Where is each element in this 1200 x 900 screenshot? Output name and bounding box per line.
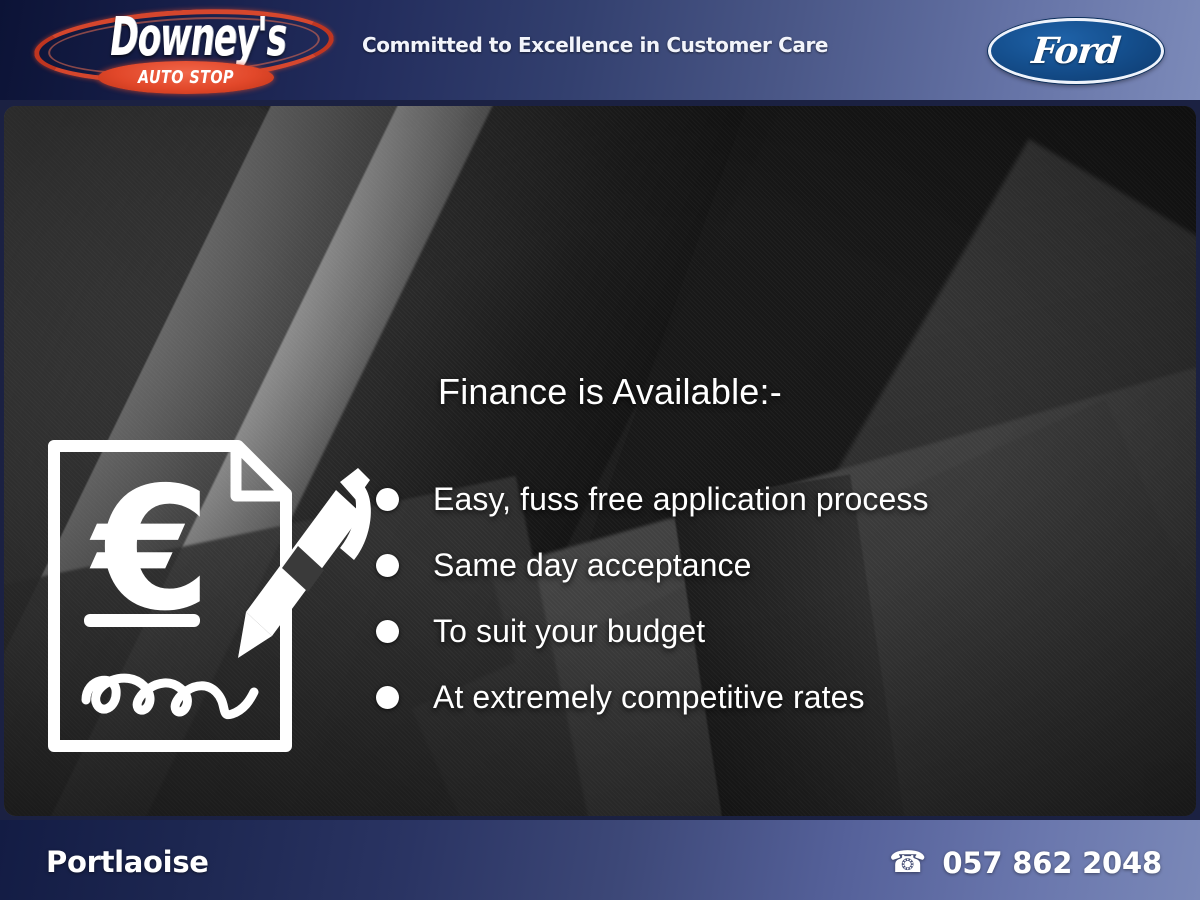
header-tagline: Committed to Excellence in Customer Care	[362, 33, 828, 57]
telephone-icon: ☎	[889, 848, 926, 878]
benefits-list: Easy, fuss free application process Same…	[376, 466, 929, 730]
bullet-dot-icon	[376, 554, 399, 577]
advert-page: Downey's AUTO STOP Committed to Excellen…	[0, 0, 1200, 900]
site-header: Downey's AUTO STOP Committed to Excellen…	[0, 0, 1200, 100]
bullet-dot-icon	[376, 488, 399, 511]
list-item-label: Easy, fuss free application process	[433, 481, 929, 518]
dealer-name: Downey's	[104, 6, 291, 69]
list-item-label: To suit your budget	[433, 613, 705, 650]
list-item: Easy, fuss free application process	[376, 466, 929, 532]
finance-document-signing-icon: €	[40, 428, 380, 768]
branch-location: Portlaoise	[46, 845, 209, 879]
list-item: To suit your budget	[376, 598, 929, 664]
bullet-dot-icon	[376, 620, 399, 643]
list-item-label: At extremely competitive rates	[433, 679, 865, 716]
contact-phone[interactable]: ☎ 057 862 2048	[889, 846, 1162, 880]
page-title: Finance is Available:-	[438, 371, 782, 413]
dealer-logo[interactable]: Downey's AUTO STOP	[24, 4, 344, 98]
list-item: Same day acceptance	[376, 532, 929, 598]
site-footer: Portlaoise ☎ 057 862 2048	[0, 820, 1200, 900]
bullet-dot-icon	[376, 686, 399, 709]
logo-pill-shape: AUTO STOP	[98, 61, 274, 94]
advert-stage: € Finance is Available:-	[0, 100, 1200, 820]
ford-logo[interactable]: Ford	[988, 18, 1164, 84]
dealer-subname: AUTO STOP	[116, 67, 257, 88]
phone-number: 057 862 2048	[942, 846, 1162, 880]
list-item: At extremely competitive rates	[376, 664, 929, 730]
ford-wordmark: Ford	[1030, 30, 1122, 72]
list-item-label: Same day acceptance	[433, 547, 752, 584]
advert-background-photo: € Finance is Available:-	[4, 106, 1196, 816]
